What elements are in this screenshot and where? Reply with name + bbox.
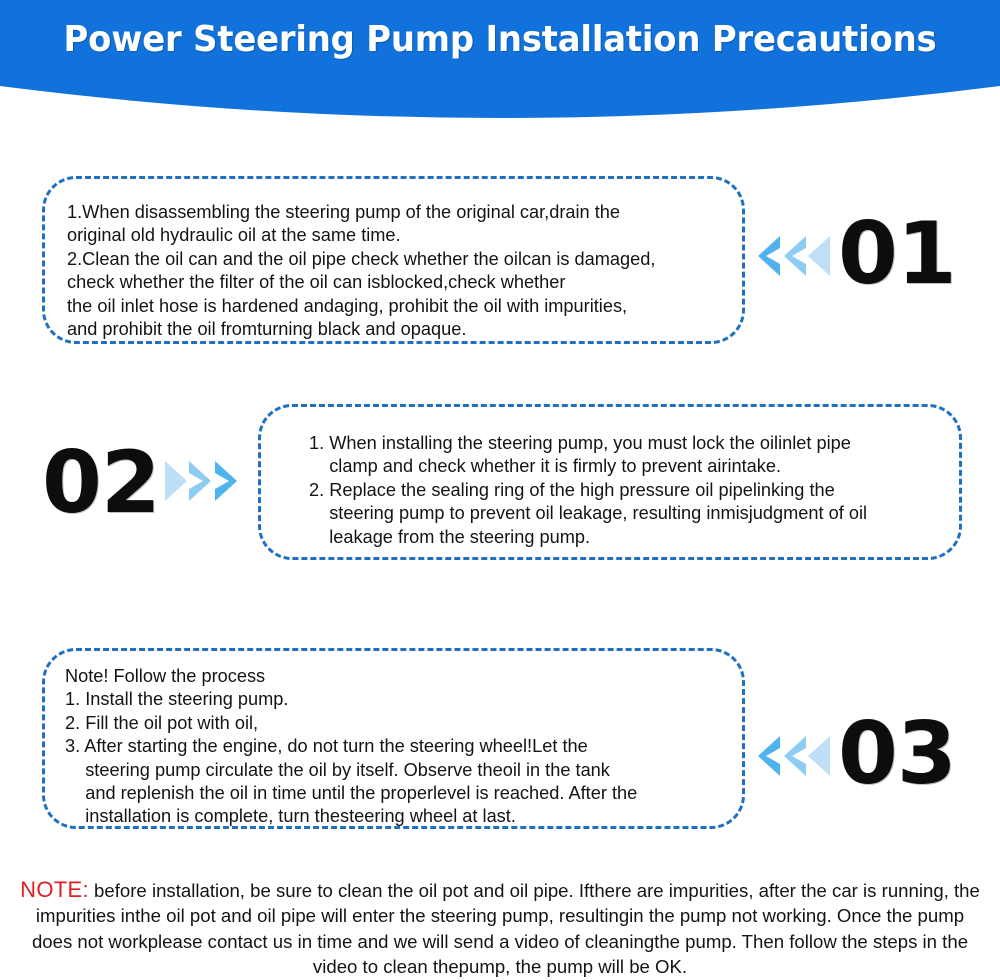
step-panel-02-body: 1. When installing the steering pump, yo… [309, 432, 867, 549]
step-panel-03: Note! Follow the process 1. Install the … [42, 648, 745, 829]
footer-note-label: NOTE: [20, 877, 89, 902]
double-chevron-left-icon [756, 234, 832, 278]
step-number-01: 01 [838, 211, 956, 297]
step-panel-01-body: 1.When disassembling the steering pump o… [67, 201, 655, 341]
page-title: Power Steering Pump Installation Precaut… [30, 17, 970, 63]
double-chevron-left-icon [756, 734, 832, 778]
footer-note: NOTE: before installation, be sure to cl… [18, 877, 982, 980]
step-panel-02: 1. When installing the steering pump, yo… [258, 404, 962, 560]
step-number-03: 03 [838, 711, 956, 797]
step-panel-01: 1.When disassembling the steering pump o… [42, 176, 745, 344]
step-number-02: 02 [42, 440, 160, 526]
double-chevron-right-icon [163, 459, 239, 503]
header-banner: Power Steering Pump Installation Precaut… [0, 0, 1000, 140]
footer-note-text: before installation, be sure to clean th… [32, 880, 980, 977]
step-panel-03-body: Note! Follow the process 1. Install the … [65, 665, 637, 829]
